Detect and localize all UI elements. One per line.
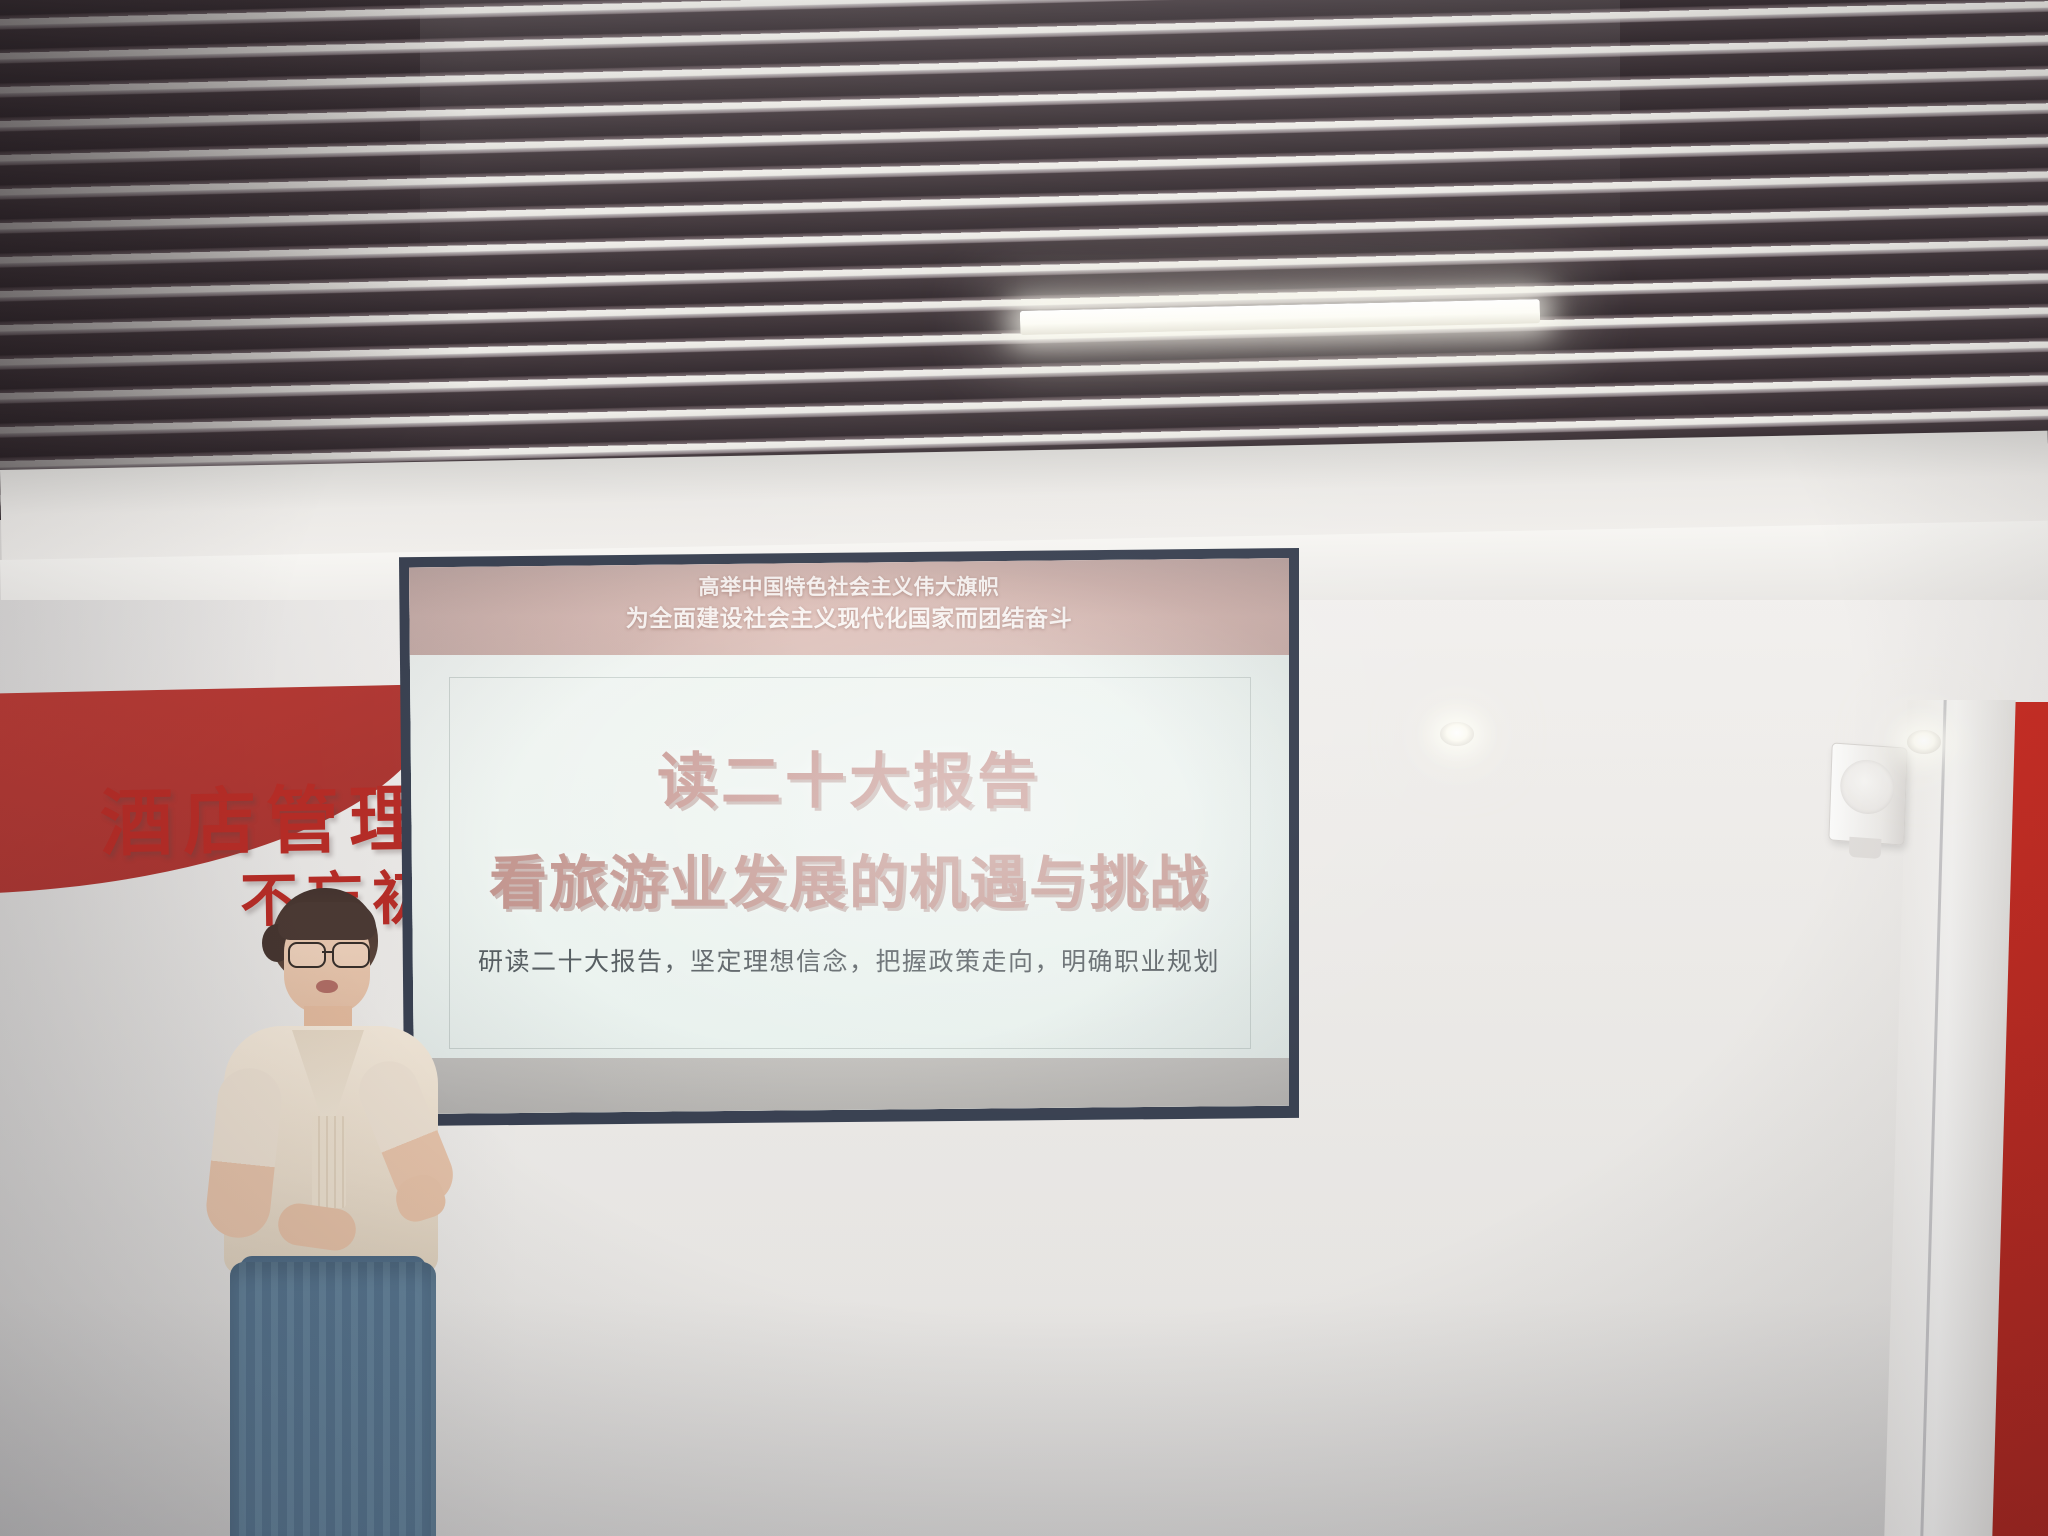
presenter-glasses	[286, 942, 370, 964]
wall-speaker	[1828, 742, 1907, 845]
speaker-cone	[1839, 758, 1895, 816]
presenter-fringe	[278, 902, 376, 940]
slide-header-line1: 高举中国特色社会主义伟大旗帜	[409, 572, 1289, 603]
glasses-bridge	[322, 951, 334, 953]
slide-title-line2: 看旅游业发展的机遇与挑战	[409, 836, 1289, 920]
ceiling-downlight	[1907, 730, 1941, 754]
slide-header-text: 高举中国特色社会主义伟大旗帜 为全面建设社会主义现代化国家而团结奋斗	[409, 572, 1289, 634]
presenter-skirt	[230, 1262, 436, 1536]
glasses-lens-right	[332, 942, 370, 968]
presenter	[200, 880, 460, 1536]
slide-header-line2: 为全面建设社会主义现代化国家而团结奋斗	[409, 603, 1289, 634]
projection-screen-surface: 高举中国特色社会主义伟大旗帜 为全面建设社会主义现代化国家而团结奋斗 读二十大报…	[409, 558, 1289, 1114]
slide-bottom-band	[409, 1058, 1289, 1114]
slide-subtitle: 研读二十大报告，坚定理想信念，把握政策走向，明确职业规划	[409, 942, 1289, 978]
speaker-mount	[1849, 837, 1882, 859]
slide-title-line1: 读二十大报告	[409, 733, 1289, 820]
glasses-lens-left	[288, 942, 326, 968]
projected-slide: 高举中国特色社会主义伟大旗帜 为全面建设社会主义现代化国家而团结奋斗 读二十大报…	[409, 558, 1289, 1114]
ceiling-downlight	[1440, 722, 1474, 746]
presenter-mouth	[316, 980, 338, 993]
lecture-hall-scene: 酒店管理学 不忘初心 高举中国特色社会主义伟大旗帜 为全面建设社会主义现代化国家…	[0, 0, 2048, 1536]
presenter-placket	[312, 1116, 346, 1208]
